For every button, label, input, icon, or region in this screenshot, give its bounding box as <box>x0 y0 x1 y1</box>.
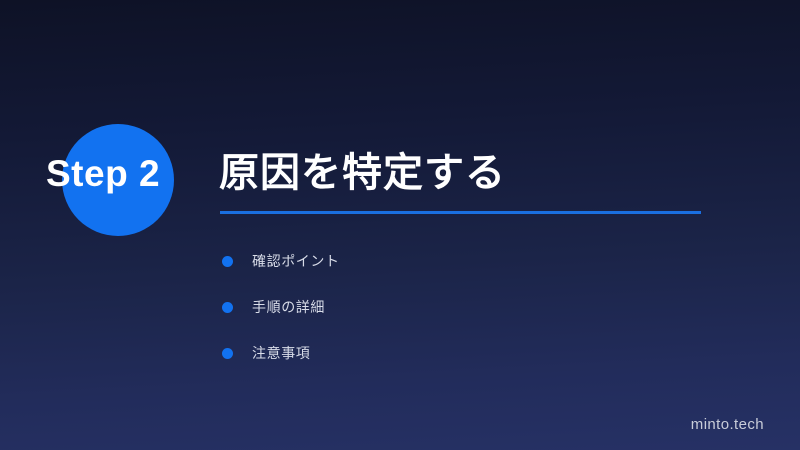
list-item: 注意事項 <box>222 330 340 376</box>
title-underline-rule <box>220 211 701 214</box>
list-item-label: 確認ポイント <box>252 251 340 271</box>
list-item: 確認ポイント <box>222 238 340 284</box>
slide-title: 原因を特定する <box>219 149 506 197</box>
step-number-label: Step 2 <box>46 153 160 195</box>
bullet-dot-icon <box>222 302 233 313</box>
list-item-label: 手順の詳細 <box>252 297 325 317</box>
list-item: 手順の詳細 <box>222 284 340 330</box>
list-item-label: 注意事項 <box>252 343 310 363</box>
bullet-dot-icon <box>222 256 233 267</box>
bullet-list: 確認ポイント 手順の詳細 注意事項 <box>222 238 340 376</box>
brand-watermark: minto.tech <box>691 416 764 433</box>
presentation-slide: Step 2 原因を特定する 確認ポイント 手順の詳細 注意事項 minto.t… <box>0 0 800 450</box>
bullet-dot-icon <box>222 348 233 359</box>
